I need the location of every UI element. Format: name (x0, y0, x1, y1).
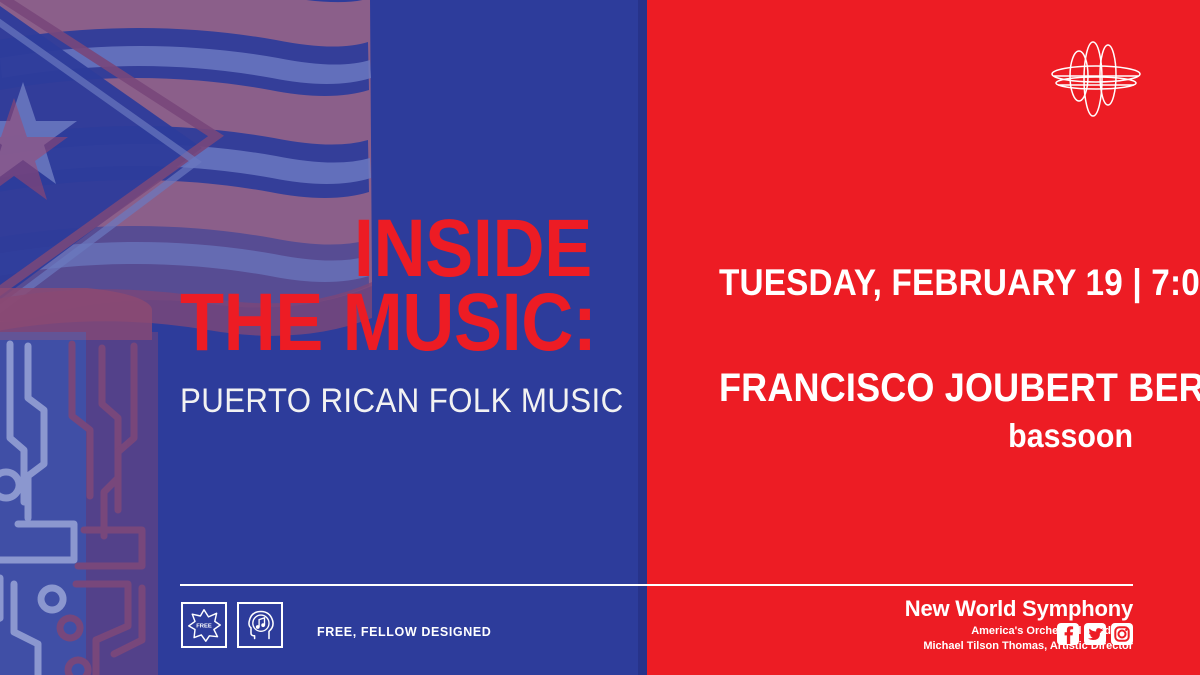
left-panel: INSIDE THE MUSIC: PUERTO RICAN FOLK MUSI… (0, 0, 647, 675)
head-music-note-icon (242, 607, 278, 643)
panel-divider-edge (638, 0, 647, 675)
brand-name: New World Symphony (905, 596, 1133, 622)
poster-subtitle: PUERTO RICAN FOLK MUSIC (180, 382, 585, 421)
event-date: TUESDAY, FEBRUARY 19 | 7:00 PM (719, 262, 1133, 304)
badge-fellow-designed (237, 602, 283, 648)
footer-divider-right (647, 584, 1133, 586)
badge-free: FREE (181, 602, 227, 648)
event-poster: INSIDE THE MUSIC: PUERTO RICAN FOLK MUSI… (0, 0, 1200, 675)
twitter-button[interactable] (1084, 623, 1106, 645)
svg-text:FREE: FREE (196, 624, 212, 630)
event-details: TUESDAY, FEBRUARY 19 | 7:00 PM FRANCISCO… (673, 262, 1133, 455)
title-block: INSIDE THE MUSIC: PUERTO RICAN FOLK MUSI… (180, 212, 620, 421)
starburst-free-icon: FREE (186, 607, 222, 643)
bassoon-artwork (0, 288, 181, 675)
social-links (1057, 623, 1133, 645)
facebook-button[interactable] (1057, 623, 1079, 645)
twitter-icon (1084, 623, 1106, 645)
facebook-icon (1057, 623, 1079, 645)
poster-title-line-1: INSIDE (180, 212, 602, 286)
instagram-button[interactable] (1111, 623, 1133, 645)
new-world-symphony-logo-icon (1046, 40, 1146, 118)
footer-badge-label: FREE, FELLOW DESIGNED (317, 625, 491, 639)
footer-divider-left (180, 584, 647, 586)
instagram-icon (1111, 623, 1133, 645)
event-instrument: bassoon (710, 417, 1133, 455)
footer-badges: FREE FREE, FELLOW DESIGNED (181, 602, 491, 648)
poster-title-line-2: THE MUSIC: (180, 286, 567, 360)
event-artist-name: FRANCISCO JOUBERT BERNARD (719, 366, 1133, 411)
